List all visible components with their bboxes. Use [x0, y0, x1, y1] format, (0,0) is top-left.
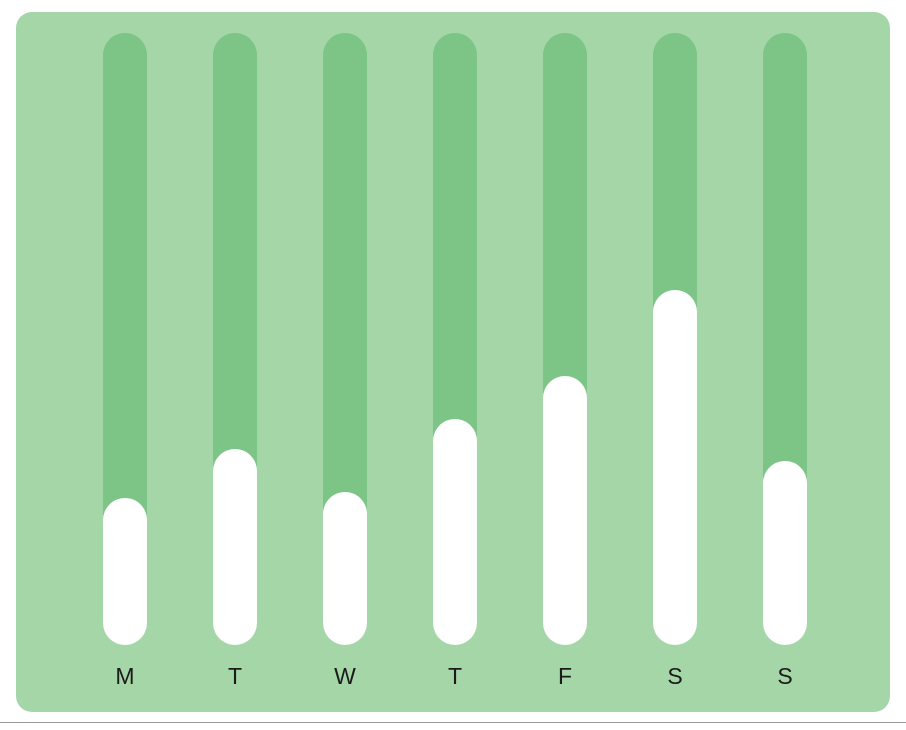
slider-fill-friday[interactable]: [543, 376, 587, 645]
slider-track-saturday[interactable]: [653, 33, 697, 645]
slider-track-monday[interactable]: [103, 33, 147, 645]
slider-column-thursday[interactable]: [433, 33, 477, 645]
axis-label-sunday: S: [763, 662, 807, 690]
slider-column-monday[interactable]: [103, 33, 147, 645]
axis-label-wednesday: W: [323, 662, 367, 690]
axis-label-saturday: S: [653, 662, 697, 690]
slider-fill-wednesday[interactable]: [323, 492, 367, 645]
slider-track-thursday[interactable]: [433, 33, 477, 645]
slider-track-tuesday[interactable]: [213, 33, 257, 645]
axis-label-thursday: T: [433, 662, 477, 690]
slider-track-friday[interactable]: [543, 33, 587, 645]
axis-label-friday: F: [543, 662, 587, 690]
slider-column-friday[interactable]: [543, 33, 587, 645]
slider-column-sunday[interactable]: [763, 33, 807, 645]
screenshot-stage: M T W T: [0, 0, 906, 730]
axis-label-monday: M: [103, 662, 147, 690]
slider-fill-tuesday[interactable]: [213, 449, 257, 645]
weekly-activity-card: M T W T: [16, 12, 890, 712]
slider-fill-thursday[interactable]: [433, 419, 477, 645]
weekly-slider-chart: M T W T: [16, 12, 890, 712]
slider-column-saturday[interactable]: [653, 33, 697, 645]
slider-column-wednesday[interactable]: [323, 33, 367, 645]
axis-label-tuesday: T: [213, 662, 257, 690]
slider-fill-sunday[interactable]: [763, 461, 807, 645]
slider-track-wednesday[interactable]: [323, 33, 367, 645]
slider-column-tuesday[interactable]: [213, 33, 257, 645]
bottom-divider: [0, 722, 906, 723]
slider-fill-saturday[interactable]: [653, 290, 697, 645]
slider-track-sunday[interactable]: [763, 33, 807, 645]
slider-fill-monday[interactable]: [103, 498, 147, 645]
